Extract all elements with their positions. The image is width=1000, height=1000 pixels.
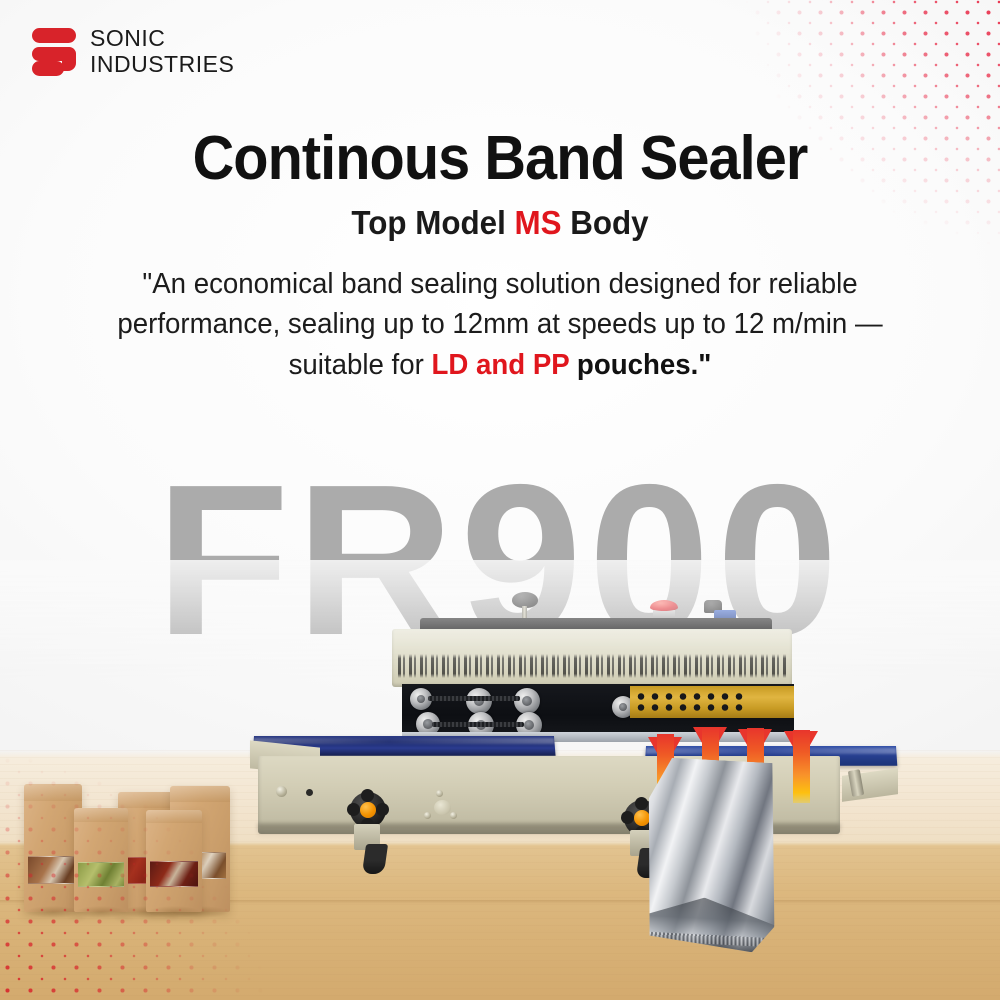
poster-canvas: SONIC INDUSTRIES Continous Band Sealer T… [0,0,1000,1000]
description-line-2: performance, sealing up to 12mm at speed… [64,304,937,344]
silver-foil-pouch [641,757,783,954]
orange-tension-knob-left [350,792,386,828]
sealing-band-belt [432,722,524,727]
machine-foot-left [362,844,388,874]
kraft-pouch-4 [146,810,202,912]
subtitle-after: Body [562,204,649,241]
base-fastener-group [424,790,460,822]
subtitle-model-highlight: MS [514,204,561,241]
ventilation-louvers [398,654,786,678]
description-materials-highlight: LD and PP [432,349,570,381]
drive-pulley [514,688,540,714]
heat-arrow [784,701,818,803]
sealing-band-belt [428,696,520,701]
drive-pulley [466,688,492,714]
red-estop-button [650,600,678,620]
brand-logo[interactable]: SONIC INDUSTRIES [32,26,234,78]
brand-name-line1: SONIC [90,26,234,52]
page-title: Continous Band Sealer [72,126,928,192]
side-hole [306,789,313,796]
sonic-s-logo-icon [32,28,76,76]
page-subtitle: Top Model MS Body [63,204,937,242]
kraft-pouch-group [18,762,268,912]
description-line3-before: suitable for [289,349,432,381]
description-line3-after: pouches." [569,349,711,381]
side-screw [276,786,287,797]
description-line-1: "An economical band sealing solution des… [64,264,937,304]
kraft-pouch-2 [74,808,128,912]
description-line-3: suitable for LD and PP pouches." [64,345,937,385]
brand-name-line2: INDUSTRIES [90,52,234,78]
product-description: "An economical band sealing solution des… [64,264,937,385]
subtitle-before: Top Model [351,204,514,241]
hero-copy-block: Continous Band Sealer Top Model MS Body … [0,126,1000,385]
brand-name: SONIC INDUSTRIES [90,26,234,78]
